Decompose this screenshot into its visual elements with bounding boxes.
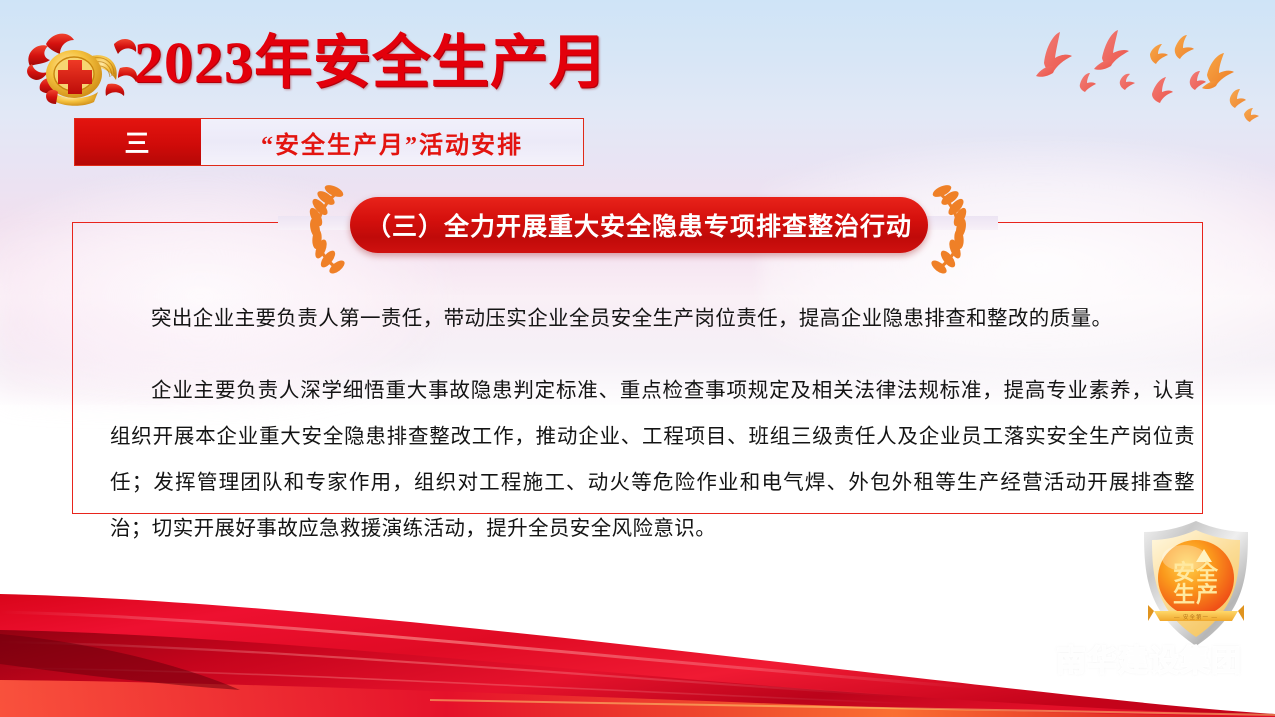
section-label: “安全生产月”活动安排 [201, 119, 583, 165]
page-title: 2023年安全生产月 [134, 28, 608, 98]
section-chip-bar[interactable]: 三 “安全生产月”活动安排 [74, 118, 584, 166]
body-text-block: 突出企业主要负责人第一责任，带动压实企业全员安全生产岗位责任，提高企业隐患排查和… [110, 296, 1195, 552]
slide-canvas: 2023年安全生产月 [0, 0, 1275, 717]
safety-production-emblem-icon [22, 24, 144, 112]
wechat-icon [1003, 640, 1047, 677]
wechat-watermark: 南华建设集团 [1003, 637, 1242, 679]
body-paragraph-1: 突出企业主要负责人第一责任，带动压实企业全员安全生产岗位责任，提高企业隐患排查和… [110, 296, 1195, 342]
wheat-branch-right-icon [928, 183, 988, 275]
watermark-label: 南华建设集团 [1056, 636, 1242, 680]
subsection-heading: （三）全力开展重大安全隐患专项排查整治行动 [288, 183, 988, 283]
wheat-branch-left-icon [288, 183, 348, 275]
flying-birds-decoration-icon [1022, 18, 1272, 128]
section-number: 三 [75, 119, 201, 165]
subsection-pill[interactable]: （三）全力开展重大安全隐患专项排查整治行动 [350, 197, 928, 253]
subsection-pill-label: （三）全力开展重大安全隐患专项排查整治行动 [366, 207, 912, 243]
body-paragraph-2: 企业主要负责人深学细悟重大事故隐患判定标准、重点检查事项规定及相关法律法规标准，… [110, 368, 1195, 552]
